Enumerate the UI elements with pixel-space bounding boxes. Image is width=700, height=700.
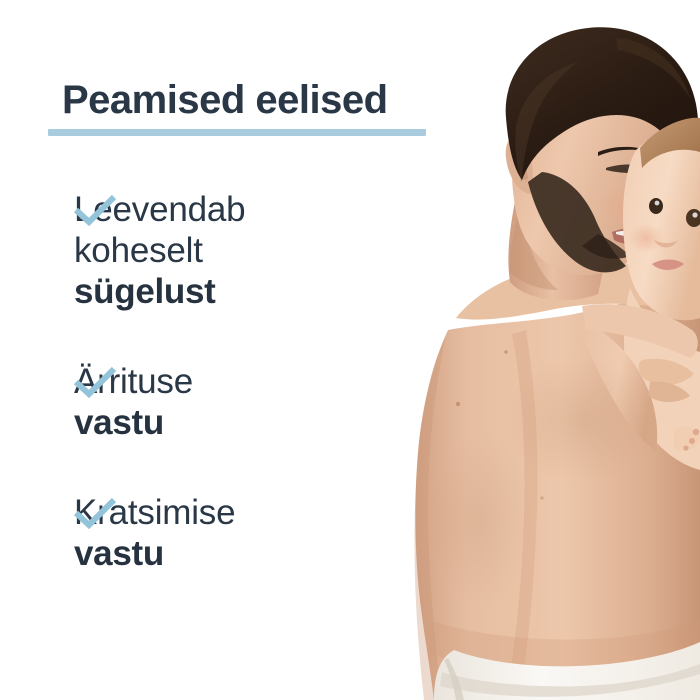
promo-banner: Peamised eelised Leevendab koheselt süge… — [0, 0, 700, 700]
check-icon — [74, 194, 116, 226]
check-icon — [74, 366, 116, 398]
list-item: Leevendab koheselt sügelust — [0, 188, 440, 312]
benefits-list: Leevendab koheselt sügelust Ärrituse vas… — [0, 188, 440, 622]
check-icon-wrap — [0, 360, 74, 404]
check-icon-wrap — [0, 491, 74, 535]
title-underline — [48, 129, 426, 136]
check-icon-wrap — [0, 188, 74, 232]
benefit-emphasis: sügelust — [74, 271, 245, 312]
check-icon — [74, 497, 116, 529]
benefit-lead-2: koheselt — [74, 230, 245, 271]
benefits-panel: Peamised eelised Leevendab koheselt süge… — [0, 0, 440, 700]
benefit-emphasis: vastu — [74, 402, 193, 443]
list-item: Ärrituse vastu — [0, 360, 440, 443]
benefit-emphasis: vastu — [74, 533, 235, 574]
list-item: Kratsimise vastu — [0, 491, 440, 574]
page-title: Peamised eelised — [62, 80, 388, 120]
